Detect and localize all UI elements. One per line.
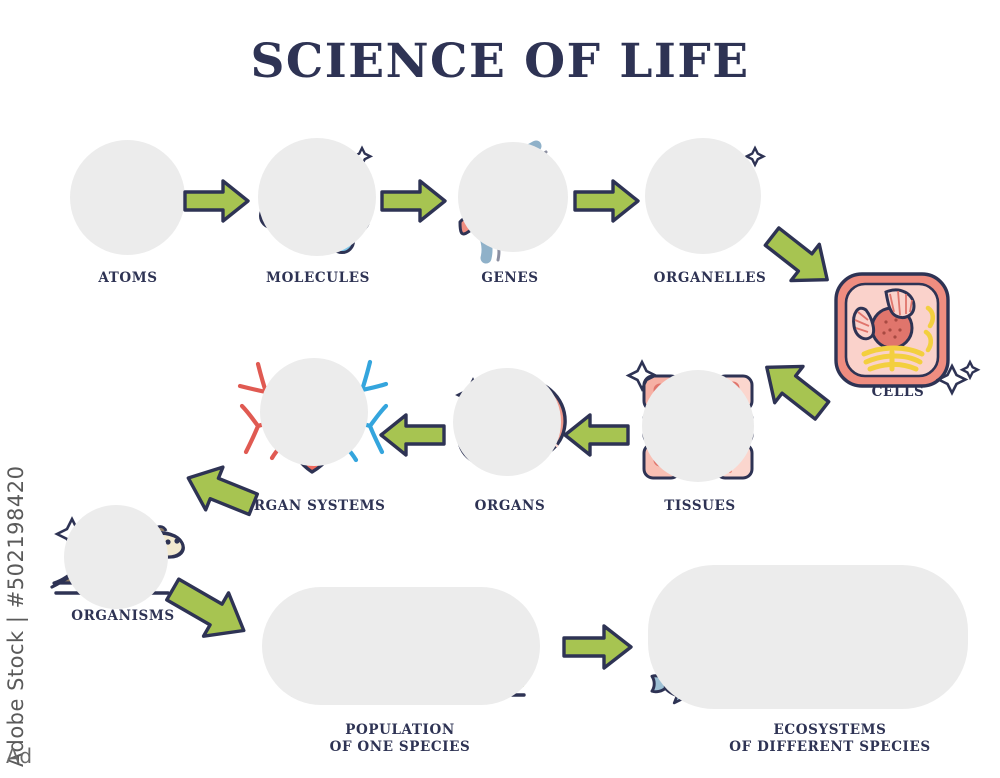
stage-ecosystems[interactable] <box>648 565 968 713</box>
page-title: SCIENCE OF LIFE <box>0 34 1000 89</box>
stage-population[interactable] <box>262 587 540 709</box>
ecosystems-backdrop <box>648 565 968 709</box>
population-backdrop <box>262 587 540 705</box>
arrow-molecules-genes <box>380 178 448 224</box>
tissues-backdrop <box>642 370 754 482</box>
caption-genes: GENES <box>440 270 580 287</box>
arrow-organelles-cells <box>762 225 842 295</box>
organs-backdrop <box>453 368 561 476</box>
arrow-genes-organelles <box>573 178 641 224</box>
arrow-organisms-population <box>163 572 258 650</box>
watermark-side: Adobe Stock | #502198420 <box>4 466 28 768</box>
caption-organ-systems: ORGAN SYSTEMS <box>236 498 391 515</box>
stage-genes[interactable] <box>452 138 572 258</box>
caption-tissues: TISSUES <box>630 498 770 515</box>
stage-atoms[interactable] <box>70 140 185 255</box>
infographic-canvas: SCIENCE OF LIFE ATOMS <box>0 0 1000 778</box>
stage-organs[interactable] <box>445 362 570 487</box>
arrow-atoms-molecules <box>183 178 251 224</box>
organ-systems-backdrop <box>260 358 368 466</box>
caption-atoms: ATOMS <box>58 270 198 287</box>
caption-cells: CELLS <box>838 384 958 401</box>
caption-population: POPULATION OF ONE SPECIES <box>300 722 500 756</box>
genes-backdrop <box>458 142 568 252</box>
stage-organ-systems[interactable] <box>238 358 383 488</box>
caption-ecosystems: ECOSYSTEMS OF DIFFERENT SPECIES <box>710 722 950 756</box>
stage-organelles[interactable] <box>645 138 770 263</box>
arrow-population-ecosystems <box>562 622 634 672</box>
caption-molecules: MOLECULES <box>248 270 388 287</box>
atoms-backdrop <box>70 140 185 255</box>
watermark-corner: Ad <box>6 744 32 768</box>
caption-organs: ORGANS <box>440 498 580 515</box>
stage-cells[interactable] <box>832 270 952 390</box>
stage-tissues[interactable] <box>638 368 764 488</box>
arrow-organs-organ-systems <box>378 412 446 458</box>
organisms-backdrop <box>64 505 168 609</box>
organelles-backdrop <box>645 138 761 254</box>
molecules-backdrop <box>258 138 376 256</box>
stage-molecules[interactable] <box>258 138 378 258</box>
